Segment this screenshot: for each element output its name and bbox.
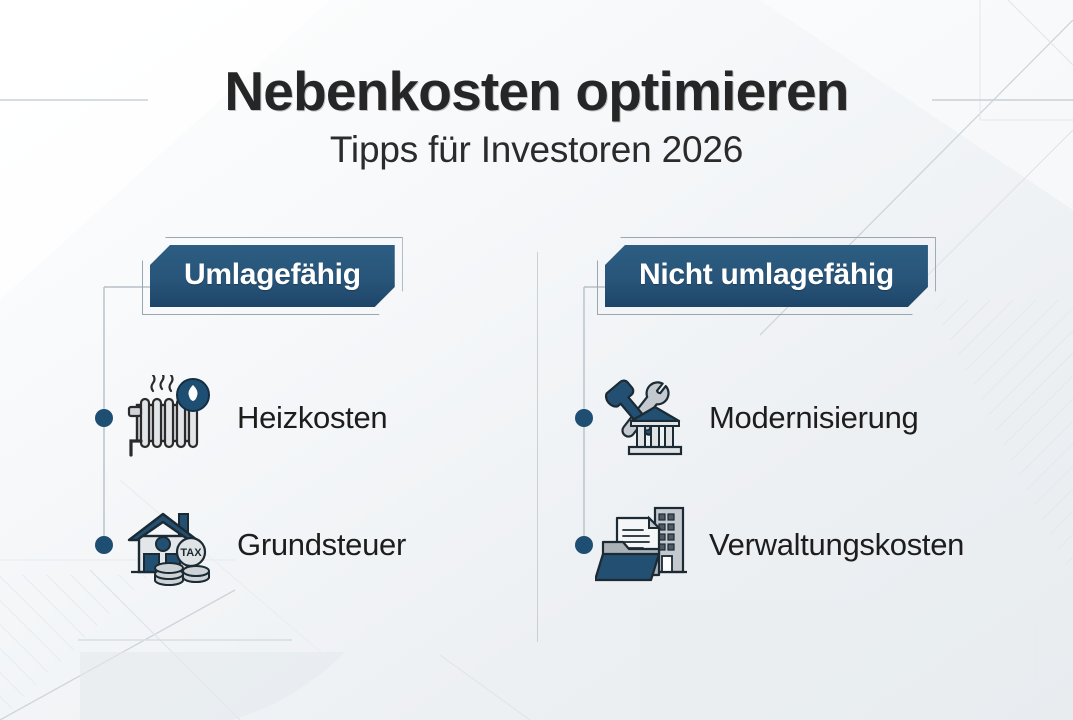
page-title: Nebenkosten optimieren <box>0 62 1073 120</box>
svg-text:TAX: TAX <box>180 547 202 559</box>
list-item-label: Verwaltungskosten <box>709 527 964 563</box>
badge-label: Umlagefähig <box>150 245 395 307</box>
radiator-flame-icon <box>123 375 215 461</box>
hammer-wrench-building-icon <box>595 375 687 461</box>
list-item[interactable]: Verwaltungskosten <box>595 500 964 590</box>
badge-label: Nicht umlagefähig <box>605 245 928 307</box>
page-subtitle: Tipps für Investoren 2026 <box>0 129 1073 171</box>
house-tax-coins-icon: TAX <box>123 502 215 588</box>
infographic-canvas: Nebenkosten optimieren Tipps für Investo… <box>0 0 1073 720</box>
columns-container: Umlagefähig <box>0 240 1073 660</box>
list-item[interactable]: Heizkosten <box>123 373 387 463</box>
column-umlagefaehig: Umlagefähig <box>95 240 525 660</box>
header: Nebenkosten optimieren Tipps für Investo… <box>0 62 1073 171</box>
badge-nicht-umlagefaehig[interactable]: Nicht umlagefähig <box>605 245 928 307</box>
list-item[interactable]: Modernisierung <box>595 373 918 463</box>
column-nicht-umlagefaehig: Nicht umlagefähig <box>575 240 1045 660</box>
list-item-label: Heizkosten <box>237 400 387 436</box>
list-item[interactable]: TAX Grundsteuer <box>123 500 406 590</box>
badge-umlagefaehig[interactable]: Umlagefähig <box>150 245 395 307</box>
folder-document-office-icon <box>595 502 687 588</box>
list-item-label: Grundsteuer <box>237 527 406 563</box>
list-item-label: Modernisierung <box>709 400 918 436</box>
